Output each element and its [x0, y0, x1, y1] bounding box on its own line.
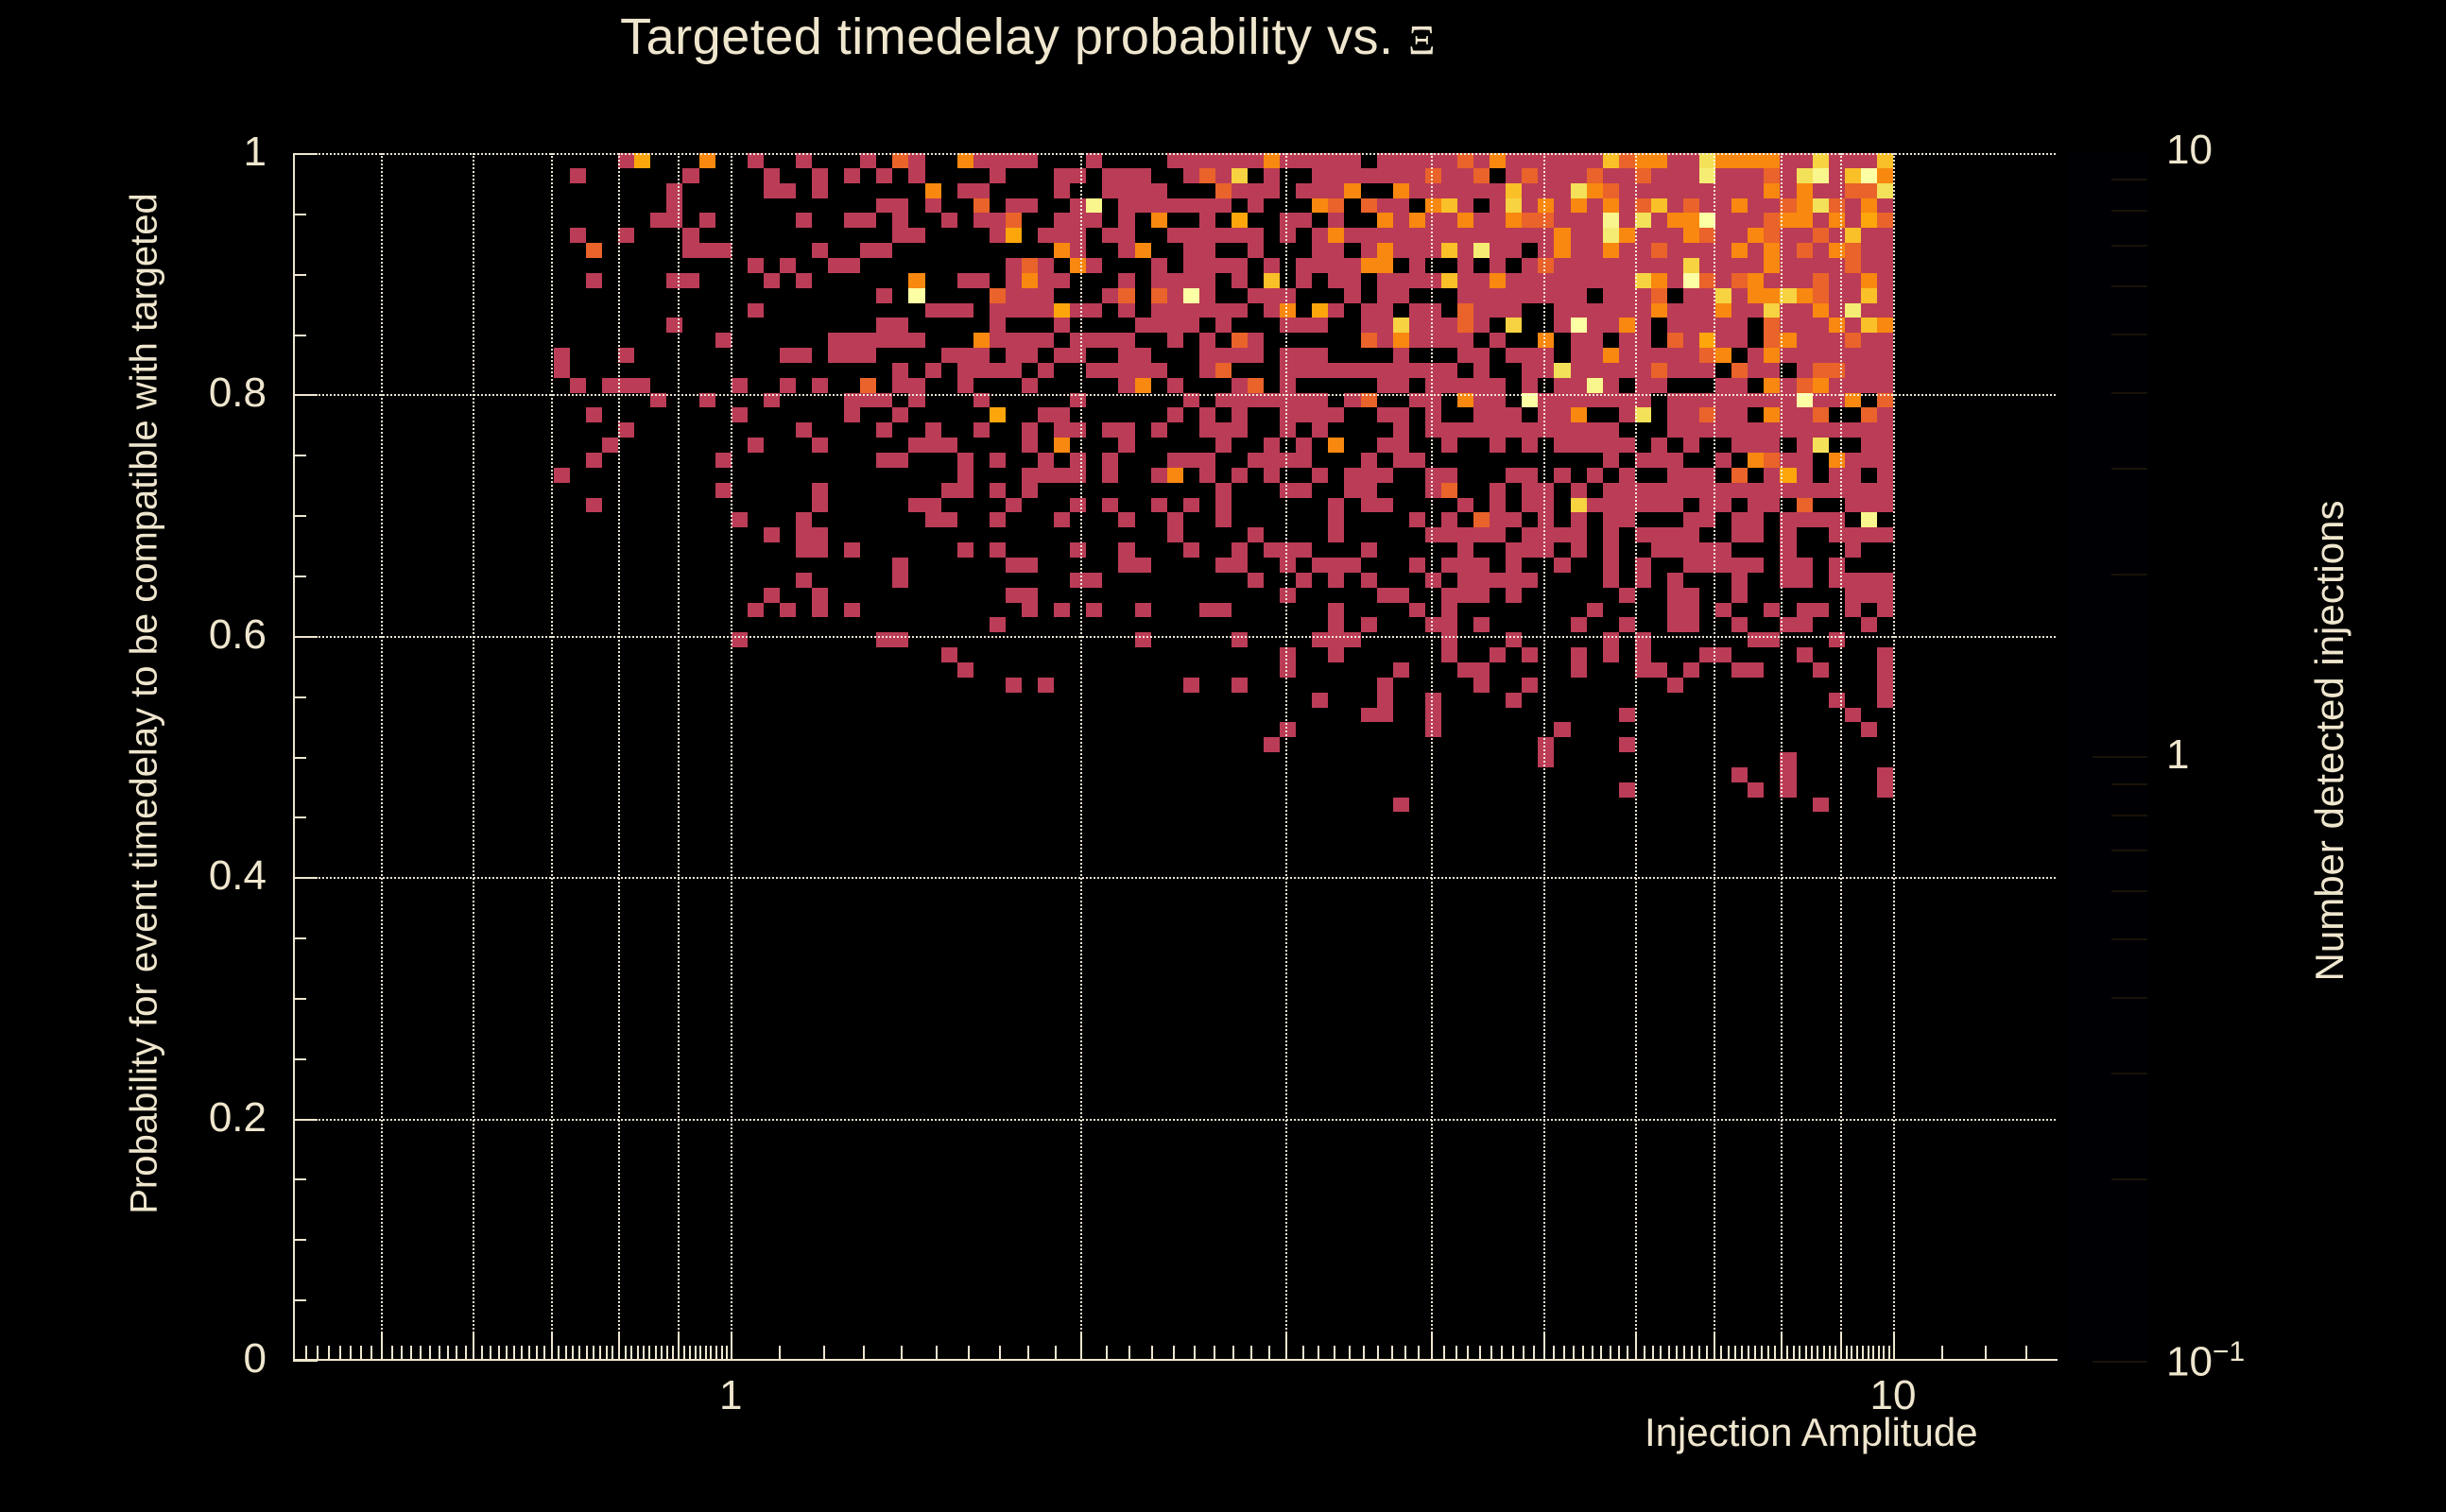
- heatmap-cell: [748, 258, 764, 273]
- heatmap-cell: [1490, 407, 1506, 422]
- heatmap-cell: [1038, 288, 1054, 303]
- heatmap-cell: [1473, 588, 1490, 603]
- axis-tick: [705, 1346, 707, 1359]
- heatmap-cell: [1603, 542, 1619, 558]
- heatmap-cell: [1748, 632, 1764, 647]
- heatmap-cell: [1441, 527, 1457, 542]
- axis-tick: [968, 1346, 970, 1359]
- heatmap-cell: [1635, 243, 1651, 258]
- heatmap-cell: [1086, 303, 1102, 318]
- heatmap-cell: [1780, 767, 1796, 782]
- axis-tick: [648, 1346, 650, 1359]
- axis-tick: [370, 1346, 372, 1359]
- heatmap-cell: [1715, 228, 1731, 243]
- axis-tick: [1334, 1346, 1335, 1359]
- heatmap-cell: [1667, 603, 1683, 618]
- heatmap-cell: [1296, 438, 1312, 453]
- heatmap-cell: [1715, 213, 1731, 228]
- heatmap-cell: [1780, 228, 1796, 243]
- heatmap-cell: [634, 153, 650, 168]
- heatmap-cell: [1667, 363, 1683, 378]
- heatmap-cell: [1441, 213, 1457, 228]
- heatmap-cell: [1215, 198, 1232, 214]
- heatmap-cell: [1151, 303, 1167, 318]
- heatmap-cell: [1135, 603, 1151, 618]
- heatmap-cell: [1571, 183, 1587, 198]
- heatmap-cell: [1764, 273, 1780, 288]
- axis-tick: [565, 1346, 567, 1359]
- heatmap-cell: [1603, 288, 1619, 303]
- heatmap-cell: [666, 213, 682, 228]
- axis-tick: [498, 1346, 500, 1359]
- heatmap-cell: [1780, 348, 1796, 363]
- heatmap-cell: [1070, 228, 1086, 243]
- heatmap-cell: [957, 378, 973, 393]
- heatmap-cell: [1861, 318, 1877, 333]
- heatmap-cell: [1877, 318, 1893, 333]
- heatmap-cell: [1393, 378, 1409, 393]
- heatmap-cell: [1199, 198, 1215, 214]
- heatmap-cell: [1506, 318, 1522, 333]
- heatmap-cell: [1877, 468, 1893, 483]
- heatmap-cell: [1296, 453, 1312, 468]
- heatmap-cell: [666, 273, 682, 288]
- heatmap-cell: [844, 258, 860, 273]
- heatmap-cell: [1651, 438, 1667, 453]
- heatmap-cell: [1118, 558, 1134, 573]
- heatmap-cell: [1344, 153, 1360, 168]
- heatmap-cell: [1861, 453, 1877, 468]
- heatmap-cell: [860, 348, 876, 363]
- heatmap-cell: [780, 183, 796, 198]
- heatmap-cell: [1764, 168, 1780, 183]
- heatmap-cell: [1667, 422, 1683, 438]
- heatmap-cell: [1151, 198, 1167, 214]
- axis-tick: [637, 1346, 639, 1359]
- heatmap-cell: [1748, 558, 1764, 573]
- heatmap-cell: [1635, 213, 1651, 228]
- heatmap-cell: [1748, 527, 1764, 542]
- heatmap-cell: [1619, 483, 1635, 498]
- heatmap-cell: [1183, 288, 1199, 303]
- heatmap-cell: [1587, 422, 1603, 438]
- heatmap-cell: [1877, 603, 1893, 618]
- heatmap-cell: [1845, 542, 1861, 558]
- heatmap-cell: [1054, 512, 1070, 527]
- heatmap-cell: [892, 453, 908, 468]
- heatmap-cell: [1022, 483, 1038, 498]
- heatmap-cell: [1715, 348, 1731, 363]
- heatmap-cell: [1167, 333, 1183, 348]
- heatmap-cell: [1683, 213, 1699, 228]
- heatmap-cell: [1603, 228, 1619, 243]
- axis-tick: [521, 1346, 523, 1359]
- axis-tick: [456, 1346, 457, 1359]
- heatmap-cell: [1506, 588, 1522, 603]
- heatmap-cell: [1877, 258, 1893, 273]
- heatmap-cell: [1280, 542, 1296, 558]
- colorbar-tick: [2111, 574, 2147, 576]
- heatmap-cell: [1635, 198, 1651, 214]
- heatmap-cell: [1635, 647, 1651, 662]
- heatmap-cell: [1522, 678, 1538, 693]
- heatmap-cell: [812, 183, 828, 198]
- heatmap-cell: [1473, 273, 1490, 288]
- heatmap-cell: [1619, 708, 1635, 723]
- heatmap-cell: [1619, 438, 1635, 453]
- heatmap-cell: [1603, 632, 1619, 647]
- heatmap-cell: [1877, 363, 1893, 378]
- heatmap-cell: [1780, 273, 1796, 288]
- heatmap-cell: [1797, 228, 1813, 243]
- xi-symbol: Ξ: [1408, 17, 1436, 63]
- heatmap-cell: [715, 243, 732, 258]
- heatmap-cell: [1797, 603, 1813, 618]
- heatmap-cell: [957, 542, 973, 558]
- heatmap-cell: [1587, 153, 1603, 168]
- heatmap-cell: [1054, 168, 1070, 183]
- heatmap-cell: [1797, 273, 1813, 288]
- heatmap-cell: [1764, 363, 1780, 378]
- axis-tick: [381, 1332, 383, 1359]
- heatmap-cell: [1199, 153, 1215, 168]
- heatmap-cell: [1441, 483, 1457, 498]
- axis-tick: [578, 1346, 580, 1359]
- heatmap-cell: [570, 168, 586, 183]
- heatmap-cell: [1232, 153, 1248, 168]
- heatmap-cell: [1619, 288, 1635, 303]
- axis-tick: [293, 515, 306, 517]
- heatmap-cell: [1280, 348, 1296, 363]
- heatmap-cell: [1667, 468, 1683, 483]
- heatmap-cell: [1425, 273, 1441, 288]
- heatmap-cell: [1667, 527, 1683, 542]
- heatmap-cell: [1425, 708, 1441, 723]
- heatmap-cell: [1409, 333, 1425, 348]
- heatmap-cell: [1377, 378, 1393, 393]
- heatmap-cell: [1522, 483, 1538, 498]
- heatmap-cell: [1667, 453, 1683, 468]
- heatmap-cell: [1118, 348, 1134, 363]
- heatmap-cell: [1715, 243, 1731, 258]
- heatmap-cell: [1780, 258, 1796, 273]
- heatmap-cell: [1764, 303, 1780, 318]
- axis-tick: [551, 1332, 553, 1359]
- axis-tick: [1720, 1346, 1722, 1359]
- heatmap-cell: [1829, 318, 1845, 333]
- heatmap-cell: [1280, 288, 1296, 303]
- heatmap-cell: [1054, 422, 1070, 438]
- heatmap-cell: [1118, 183, 1134, 198]
- heatmap-cell: [1829, 243, 1845, 258]
- heatmap-cell: [1377, 168, 1393, 183]
- heatmap-cell: [1715, 378, 1731, 393]
- heatmap-cell: [1845, 453, 1861, 468]
- heatmap-cell: [796, 422, 812, 438]
- heatmap-cell: [876, 288, 892, 303]
- heatmap-cell: [1748, 782, 1764, 798]
- heatmap-cell: [957, 483, 973, 498]
- heatmap-cell: [570, 378, 586, 393]
- heatmap-cell: [1861, 588, 1877, 603]
- axis-tick: [606, 1346, 608, 1359]
- axis-tick: [293, 816, 306, 818]
- axis-tick: [1479, 1346, 1481, 1359]
- axis-tick: [513, 1346, 515, 1359]
- heatmap-cell: [1571, 288, 1587, 303]
- heatmap-cell: [1651, 198, 1667, 214]
- heatmap-cell: [1619, 273, 1635, 288]
- axis-tick: [293, 1058, 306, 1060]
- axis-tick: [1232, 1346, 1234, 1359]
- heatmap-cell: [764, 168, 780, 183]
- heatmap-cell: [1312, 348, 1328, 363]
- heatmap-cell: [1393, 453, 1409, 468]
- heatmap-cell: [554, 348, 570, 363]
- heatmap-cell: [1506, 348, 1522, 363]
- heatmap-cell: [1780, 782, 1796, 798]
- axis-tick: [1829, 1346, 1831, 1359]
- heatmap-cell: [1490, 498, 1506, 513]
- heatmap-cell: [1731, 512, 1748, 527]
- heatmap-cell: [1215, 303, 1232, 318]
- heatmap-cell: [796, 213, 812, 228]
- axis-tick: [1805, 1346, 1807, 1359]
- heatmap-cell: [1571, 617, 1587, 632]
- heatmap-cell: [1635, 273, 1651, 288]
- axis-tick: [1767, 1346, 1769, 1359]
- heatmap-cell: [1361, 258, 1377, 273]
- heatmap-cell: [892, 632, 908, 647]
- heatmap-cell: [1619, 198, 1635, 214]
- heatmap-cell: [1554, 407, 1570, 422]
- axis-tick: [572, 1346, 574, 1359]
- heatmap-cell: [1522, 273, 1538, 288]
- heatmap-cell: [1845, 213, 1861, 228]
- heatmap-cell: [1780, 752, 1796, 767]
- heatmap-cell: [1748, 498, 1764, 513]
- axis-tick: [1173, 1346, 1175, 1359]
- axis-tick: [1734, 1346, 1736, 1359]
- heatmap-cell: [1441, 198, 1457, 214]
- heatmap-cell: [1603, 153, 1619, 168]
- heatmap-cell: [973, 363, 990, 378]
- heatmap-cell: [892, 198, 908, 214]
- heatmap-cell: [1861, 722, 1877, 737]
- heatmap-cell: [1571, 243, 1587, 258]
- heatmap-cell: [699, 243, 715, 258]
- heatmap-cell: [1877, 407, 1893, 422]
- gridline-vertical: [678, 153, 680, 1360]
- heatmap-cell: [1473, 407, 1490, 422]
- heatmap-cell: [1425, 617, 1441, 632]
- heatmap-cell: [1473, 558, 1490, 573]
- heatmap-cell: [1587, 303, 1603, 318]
- axis-tick: [328, 1346, 330, 1359]
- heatmap-cell: [1845, 153, 1861, 168]
- heatmap-cell: [1780, 243, 1796, 258]
- heatmap-cell: [1731, 288, 1748, 303]
- heatmap-cell: [1829, 198, 1845, 214]
- heatmap-cell: [1022, 288, 1038, 303]
- colorbar-tick: [2111, 392, 2147, 394]
- heatmap-cell: [1522, 573, 1538, 588]
- heatmap-cell: [1522, 498, 1538, 513]
- heatmap-cell: [844, 333, 860, 348]
- axis-tick: [1856, 1346, 1858, 1359]
- heatmap-cell: [1861, 512, 1877, 527]
- heatmap-cell: [1797, 647, 1813, 662]
- y-tick-label: 0.8: [209, 369, 267, 417]
- heatmap-cell: [1199, 453, 1215, 468]
- gridline-vertical: [731, 153, 732, 1360]
- heatmap-cell: [973, 183, 990, 198]
- axis-tick: [672, 1346, 674, 1359]
- heatmap-cell: [1328, 213, 1344, 228]
- heatmap-cell: [1731, 228, 1748, 243]
- heatmap-cell: [1797, 363, 1813, 378]
- heatmap-cell: [1312, 318, 1328, 333]
- heatmap-cell: [1877, 288, 1893, 303]
- heatmap-cell: [1215, 183, 1232, 198]
- heatmap-cell: [1554, 273, 1570, 288]
- axis-tick: [1600, 1346, 1602, 1359]
- heatmap-cell: [1667, 303, 1683, 318]
- heatmap-cell: [1797, 512, 1813, 527]
- heatmap-cell: [1731, 378, 1748, 393]
- heatmap-cell: [1344, 558, 1360, 573]
- heatmap-cell: [1377, 303, 1393, 318]
- axis-tick: [293, 576, 306, 577]
- heatmap-cell: [1312, 468, 1328, 483]
- heatmap-cell: [1813, 258, 1829, 273]
- heatmap-cell: [1603, 183, 1619, 198]
- heatmap-cell: [990, 363, 1006, 378]
- axis-tick: [293, 335, 306, 336]
- axis-tick: [465, 1346, 467, 1359]
- axis-tick: [1563, 1346, 1565, 1359]
- heatmap-cell: [1715, 333, 1731, 348]
- heatmap-cell: [1377, 708, 1393, 723]
- heatmap-cell: [1538, 198, 1554, 214]
- heatmap-cell: [957, 348, 973, 363]
- colorbar-tick: [2093, 756, 2147, 758]
- heatmap-cell: [1425, 153, 1441, 168]
- heatmap-cell: [1603, 498, 1619, 513]
- axis-tick: [350, 1346, 352, 1359]
- heatmap-cell: [1425, 168, 1441, 183]
- heatmap-cell: [1731, 588, 1748, 603]
- heatmap-cell: [1006, 198, 1022, 214]
- axis-tick: [901, 1346, 903, 1359]
- heatmap-cell: [1425, 422, 1441, 438]
- heatmap-cell: [1813, 662, 1829, 678]
- heatmap-cell: [1748, 348, 1764, 363]
- heatmap-cell: [1780, 483, 1796, 498]
- heatmap-cell: [1377, 198, 1393, 214]
- heatmap-cell: [1393, 153, 1409, 168]
- heatmap-cell: [1361, 468, 1377, 483]
- heatmap-cell: [1506, 273, 1522, 288]
- heatmap-cell: [1118, 512, 1134, 527]
- heatmap-cell: [1619, 498, 1635, 513]
- heatmap-cell: [1861, 288, 1877, 303]
- axis-tick: [1793, 1346, 1795, 1359]
- heatmap-cell: [1264, 153, 1280, 168]
- heatmap-cell: [1538, 512, 1554, 527]
- heatmap-cell: [1731, 273, 1748, 288]
- heatmap-cell: [1715, 198, 1731, 214]
- heatmap-cell: [1377, 258, 1393, 273]
- heatmap-cell: [1118, 198, 1134, 214]
- heatmap-cell: [1731, 198, 1748, 214]
- chart-root: Targeted timedelay probability vs. Ξ 00.…: [0, 0, 2446, 1512]
- heatmap-cell: [1183, 198, 1199, 214]
- heatmap-cell: [1425, 407, 1441, 422]
- heatmap-cell: [990, 453, 1006, 468]
- heatmap-cell: [1457, 303, 1473, 318]
- heatmap-cell: [1635, 183, 1651, 198]
- heatmap-cell: [1361, 303, 1377, 318]
- heatmap-cell: [1328, 303, 1344, 318]
- heatmap-cell: [812, 588, 828, 603]
- heatmap-cell: [1199, 228, 1215, 243]
- heatmap-cell: [1813, 228, 1829, 243]
- heatmap-cell: [1603, 243, 1619, 258]
- heatmap-cell: [1635, 258, 1651, 273]
- x-axis-line: [293, 1359, 2058, 1361]
- heatmap-cell: [1877, 378, 1893, 393]
- heatmap-cell: [1377, 407, 1393, 422]
- axis-tick: [1573, 1346, 1575, 1359]
- heatmap-cell: [812, 438, 828, 453]
- heatmap-cell: [1571, 153, 1587, 168]
- heatmap-cell: [1409, 213, 1425, 228]
- heatmap-cell: [1328, 258, 1344, 273]
- heatmap-cell: [1861, 258, 1877, 273]
- heatmap-cell: [1780, 303, 1796, 318]
- heatmap-cell: [1797, 422, 1813, 438]
- heatmap-cell: [1538, 213, 1554, 228]
- heatmap-cell: [1715, 542, 1731, 558]
- heatmap-cell: [1731, 258, 1748, 273]
- heatmap-cell: [1070, 168, 1086, 183]
- y-tick-label: 0.2: [209, 1094, 267, 1142]
- heatmap-cell: [925, 198, 941, 214]
- heatmap-cell: [1280, 153, 1296, 168]
- heatmap-cell: [1038, 363, 1054, 378]
- axis-tick: [1214, 1346, 1215, 1359]
- heatmap-cell: [1312, 228, 1328, 243]
- heatmap-cell: [1683, 603, 1699, 618]
- heatmap-cell: [1361, 573, 1377, 588]
- heatmap-cell: [1829, 558, 1845, 573]
- heatmap-cell: [1554, 558, 1570, 573]
- heatmap-cell: [715, 483, 732, 498]
- axis-tick: [599, 1346, 601, 1359]
- gridline-horizontal: [293, 394, 2056, 396]
- axis-tick: [625, 1346, 627, 1359]
- heatmap-cell: [618, 348, 634, 363]
- heatmap-cell: [1861, 527, 1877, 542]
- heatmap-cell: [1619, 348, 1635, 363]
- heatmap-cell: [1328, 153, 1344, 168]
- heatmap-cell: [1764, 288, 1780, 303]
- heatmap-cell: [1232, 348, 1248, 363]
- heatmap-cell: [1377, 318, 1393, 333]
- heatmap-cell: [1135, 168, 1151, 183]
- axis-tick: [1106, 1346, 1108, 1359]
